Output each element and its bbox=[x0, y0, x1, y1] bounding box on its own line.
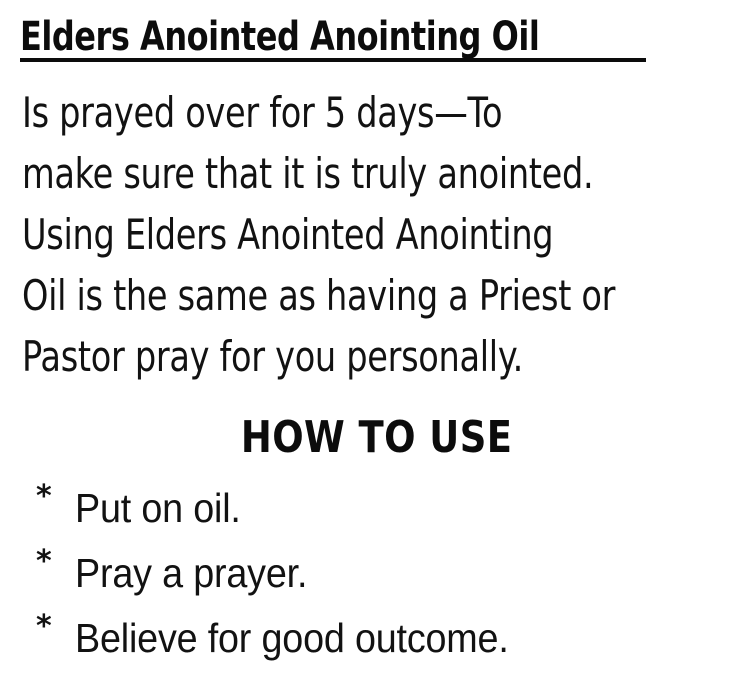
how-to-use-heading-text: HOW TO USE bbox=[241, 412, 513, 464]
how-to-use-heading: HOW TO USE bbox=[0, 412, 754, 464]
list-item: * Believe for good outcome. bbox=[30, 610, 750, 675]
page-title: Elders Anointed Anointing Oil bbox=[20, 14, 720, 60]
asterisk-bullet-icon: * bbox=[36, 480, 52, 514]
list-item-label: Believe for good outcome. bbox=[75, 614, 509, 662]
paragraph-line: Oil is the same as having a Priest or bbox=[22, 265, 608, 326]
instructions-list: * Put on oil. * Pray a prayer. * Believe… bbox=[30, 480, 750, 675]
list-item-label: Pray a prayer. bbox=[75, 549, 307, 597]
paragraph-line: Using Elders Anointed Anointing bbox=[22, 204, 608, 265]
page-title-text: Elders Anointed Anointing Oil bbox=[20, 14, 539, 60]
title-underline-rule bbox=[20, 58, 646, 62]
asterisk-bullet-icon: * bbox=[36, 545, 52, 579]
paragraph-line: make sure that it is truly anointed. bbox=[22, 143, 608, 204]
product-label-page: Elders Anointed Anointing Oil Is prayed … bbox=[0, 0, 754, 700]
asterisk-bullet-icon: * bbox=[36, 610, 52, 644]
list-item-label: Put on oil. bbox=[75, 484, 241, 532]
description-paragraph: Is prayed over for 5 days—To make sure t… bbox=[22, 82, 754, 387]
list-item: * Put on oil. bbox=[30, 480, 750, 545]
paragraph-line: Is prayed over for 5 days—To bbox=[22, 82, 608, 143]
paragraph-line: Pastor pray for you personally. bbox=[22, 326, 608, 387]
list-item: * Pray a prayer. bbox=[30, 545, 750, 610]
